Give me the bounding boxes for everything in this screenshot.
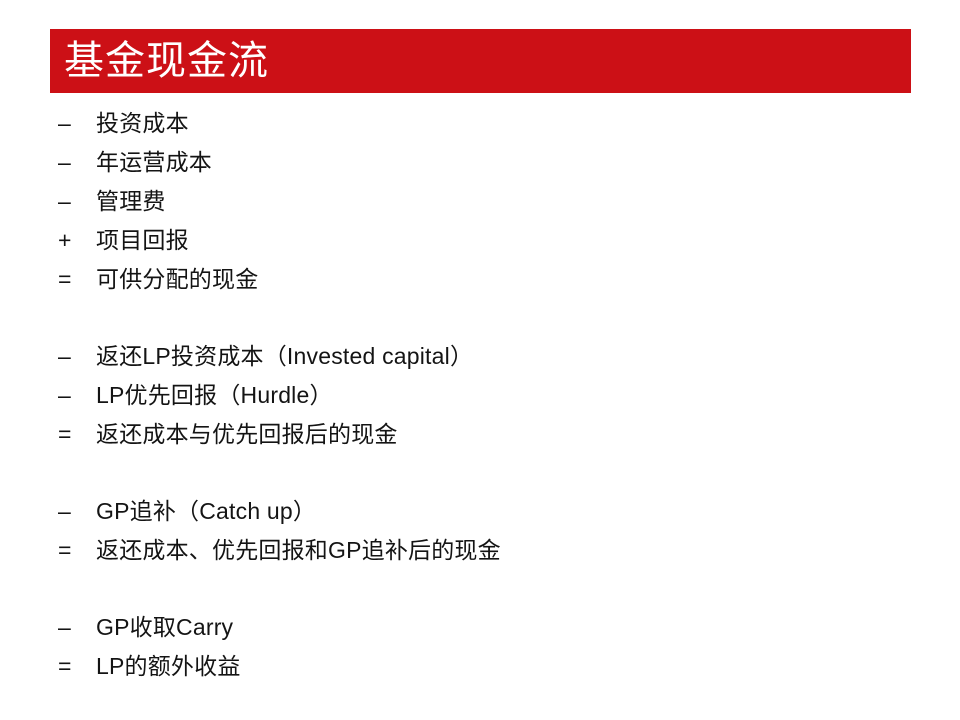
- cashflow-group-distributable: – 投资成本 – 年运营成本 – 管理费 + 项目回报 = 可供分配的现金: [50, 104, 930, 299]
- cashflow-group-return-of-capital: – 返还LP投资成本（Invested capital） – LP优先回报（Hu…: [50, 337, 930, 454]
- list-item-label: 返还成本、优先回报和GP追补后的现金: [96, 531, 501, 570]
- list-item-label: 项目回报: [96, 221, 189, 260]
- list-item-label: LP的额外收益: [96, 647, 241, 686]
- operator-marker: –: [50, 337, 96, 376]
- list-item: – 投资成本: [50, 104, 930, 143]
- list-item: – GP追补（Catch up）: [50, 492, 930, 531]
- page-title: 基金现金流: [50, 41, 269, 81]
- list-item-label: GP收取Carry: [96, 608, 233, 647]
- operator-marker: +: [50, 221, 96, 260]
- list-item-label: 返还成本与优先回报后的现金: [96, 415, 398, 454]
- list-item: = 返还成本、优先回报和GP追补后的现金: [50, 531, 930, 570]
- list-item-label: 返还LP投资成本（Invested capital）: [96, 337, 473, 376]
- list-item: = LP的额外收益: [50, 647, 930, 686]
- operator-marker: =: [50, 531, 96, 570]
- list-item: – 年运营成本: [50, 143, 930, 182]
- operator-marker: –: [50, 376, 96, 415]
- operator-marker: –: [50, 608, 96, 647]
- list-item-label: 投资成本: [96, 104, 189, 143]
- list-item-label: 管理费: [96, 182, 166, 221]
- operator-marker: =: [50, 647, 96, 686]
- list-item: – 返还LP投资成本（Invested capital）: [50, 337, 930, 376]
- list-item: – LP优先回报（Hurdle）: [50, 376, 930, 415]
- list-item-label: GP追补（Catch up）: [96, 492, 316, 531]
- operator-marker: –: [50, 143, 96, 182]
- list-item-label: LP优先回报（Hurdle）: [96, 376, 333, 415]
- operator-marker: –: [50, 492, 96, 531]
- cashflow-group-catch-up: – GP追补（Catch up） = 返还成本、优先回报和GP追补后的现金: [50, 492, 930, 570]
- slide-canvas: 基金现金流 – 投资成本 – 年运营成本 – 管理费 + 项目回报 = 可供分: [0, 0, 960, 720]
- cashflow-group-carry: – GP收取Carry = LP的额外收益: [50, 608, 930, 686]
- cashflow-waterfall-list: – 投资成本 – 年运营成本 – 管理费 + 项目回报 = 可供分配的现金: [50, 104, 930, 686]
- list-item: – 管理费: [50, 182, 930, 221]
- list-item: = 可供分配的现金: [50, 260, 930, 299]
- operator-marker: =: [50, 415, 96, 454]
- list-item-label: 年运营成本: [96, 143, 212, 182]
- list-item: – GP收取Carry: [50, 608, 930, 647]
- list-item-label: 可供分配的现金: [96, 260, 258, 299]
- list-item: + 项目回报: [50, 221, 930, 260]
- title-banner: 基金现金流: [50, 29, 911, 93]
- operator-marker: –: [50, 182, 96, 221]
- list-item: = 返还成本与优先回报后的现金: [50, 415, 930, 454]
- operator-marker: =: [50, 260, 96, 299]
- operator-marker: –: [50, 104, 96, 143]
